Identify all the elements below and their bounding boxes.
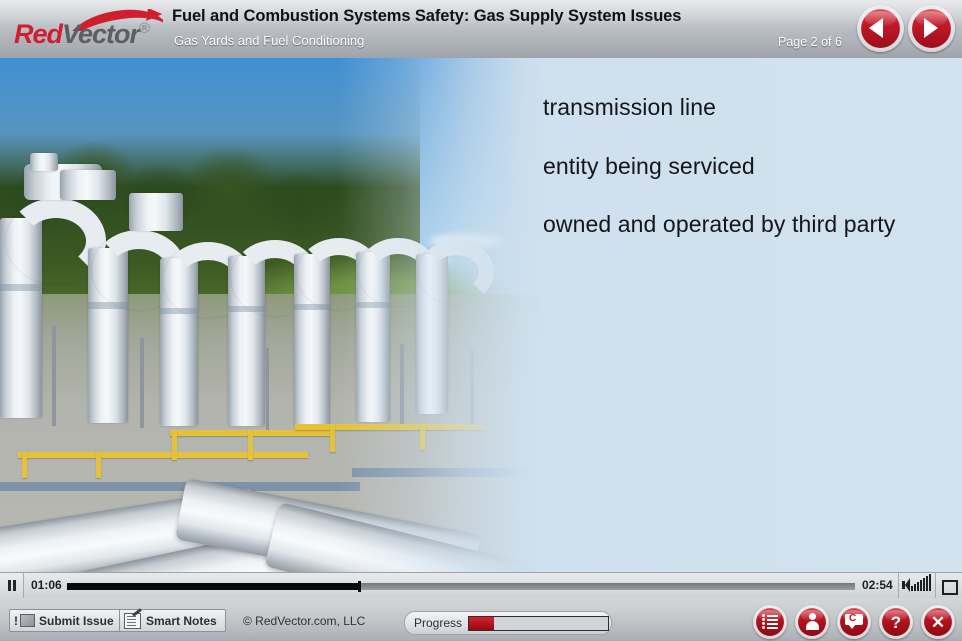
volume-level-bar xyxy=(926,576,928,591)
next-page-button[interactable] xyxy=(908,5,955,52)
volume-level-bar xyxy=(920,580,922,591)
photo-support-frame xyxy=(266,348,269,430)
logo-registered-mark: ® xyxy=(139,20,149,37)
total-time-label: 02:54 xyxy=(862,578,893,592)
photo-pipe-elbow xyxy=(418,240,494,304)
smart-notes-button[interactable]: Smart Notes xyxy=(119,609,226,632)
close-button[interactable]: ✕ xyxy=(921,605,955,639)
pause-icon-bar xyxy=(8,580,11,591)
photo-support-beam xyxy=(352,468,545,477)
pause-icon-bar xyxy=(13,580,16,591)
photo-support-frame xyxy=(400,344,404,430)
bullet-item: entity being serviced xyxy=(543,153,958,181)
arrow-right-icon xyxy=(924,18,938,38)
help-button-face xyxy=(882,608,910,636)
chat-bubble-letter: C xyxy=(849,613,856,624)
photo-support-frame xyxy=(52,326,56,426)
screen-icon xyxy=(20,614,35,627)
volume-level-bar xyxy=(923,578,925,591)
expand-icon xyxy=(949,586,958,595)
photo-railing-post xyxy=(248,430,253,460)
progress-label: Progress xyxy=(414,616,462,630)
logo-text-red: Red xyxy=(14,19,62,49)
photo-support-frame xyxy=(470,350,474,430)
photo-pipe xyxy=(129,193,183,231)
close-button-face xyxy=(924,608,952,636)
person-icon xyxy=(806,613,818,631)
redvector-logo[interactable]: RedVector® xyxy=(8,6,166,52)
photo-pipe-cap xyxy=(30,153,58,171)
photo-pipe-band xyxy=(0,284,42,291)
smart-notes-label: Smart Notes xyxy=(146,614,217,628)
slide-bullet-list: transmission line entity being serviced … xyxy=(543,94,958,270)
photo-railing-post xyxy=(22,452,27,478)
help-button[interactable]: ? xyxy=(879,605,913,639)
fullscreen-button[interactable] xyxy=(936,573,962,598)
photo-support-beam xyxy=(0,482,360,491)
copyright-text: © RedVector.com, LLC xyxy=(243,614,365,628)
submit-issue-button[interactable]: ! Submit Issue xyxy=(9,609,121,632)
submit-issue-label: Submit Issue xyxy=(39,614,114,628)
previous-page-button[interactable] xyxy=(857,5,904,52)
photo-yellow-railing xyxy=(295,424,485,430)
arrow-left-icon xyxy=(869,18,883,38)
list-menu-icon xyxy=(762,615,778,629)
photo-railing-post xyxy=(330,424,335,452)
slide-stage: transmission line entity being serviced … xyxy=(0,58,962,572)
gas-yard-photo xyxy=(0,58,545,572)
progress-fill xyxy=(469,617,494,630)
logo-text-gray: Vector xyxy=(62,19,139,49)
page-indicator: Page 2 of 6 xyxy=(778,35,842,49)
volume-level-bar xyxy=(911,586,913,591)
profile-button[interactable] xyxy=(795,605,829,639)
pause-button[interactable] xyxy=(0,573,24,598)
photo-railing-post xyxy=(420,424,425,450)
course-header: RedVector® Fuel and Combustion Systems S… xyxy=(0,0,962,58)
course-menu-button[interactable] xyxy=(753,605,787,639)
photo-pipe-band xyxy=(88,302,128,309)
chat-bubble-icon: C xyxy=(845,614,863,628)
bullet-item: transmission line xyxy=(543,94,958,122)
photo-pipe-band xyxy=(160,308,198,314)
page-subtitle: Gas Yards and Fuel Conditioning xyxy=(174,33,364,48)
bullet-item: owned and operated by third party xyxy=(543,211,958,239)
media-player-bar: 01:06 02:54 xyxy=(0,572,962,600)
volume-level-bar xyxy=(929,574,931,591)
volume-level-bar xyxy=(917,582,919,591)
course-player-window: RedVector® Fuel and Combustion Systems S… xyxy=(0,0,962,641)
volume-level-bar xyxy=(914,584,916,591)
progress-track xyxy=(468,616,609,631)
photo-pipe-band xyxy=(294,304,330,310)
alert-icon: ! xyxy=(14,614,18,628)
volume-slider[interactable] xyxy=(898,573,936,598)
current-time-label: 01:06 xyxy=(31,578,62,592)
photo-support-frame xyxy=(140,338,144,428)
seek-progress-fill xyxy=(67,583,359,590)
course-progress: Progress xyxy=(404,611,612,635)
seek-slider[interactable] xyxy=(67,583,855,590)
page-title: Fuel and Combustion Systems Safety: Gas … xyxy=(172,7,681,26)
notepad-pencil-icon xyxy=(124,613,141,629)
photo-yellow-railing xyxy=(18,452,308,458)
seek-playhead[interactable] xyxy=(358,581,361,592)
photo-pipe-band xyxy=(356,302,390,308)
chat-button[interactable]: C xyxy=(837,605,871,639)
speaker-icon xyxy=(902,581,905,589)
logo-wordmark: RedVector® xyxy=(14,21,149,48)
photo-railing-post xyxy=(96,452,101,478)
photo-pipe-band xyxy=(228,306,265,312)
photo-railing-post xyxy=(172,430,177,460)
photo-pipe xyxy=(60,170,116,200)
